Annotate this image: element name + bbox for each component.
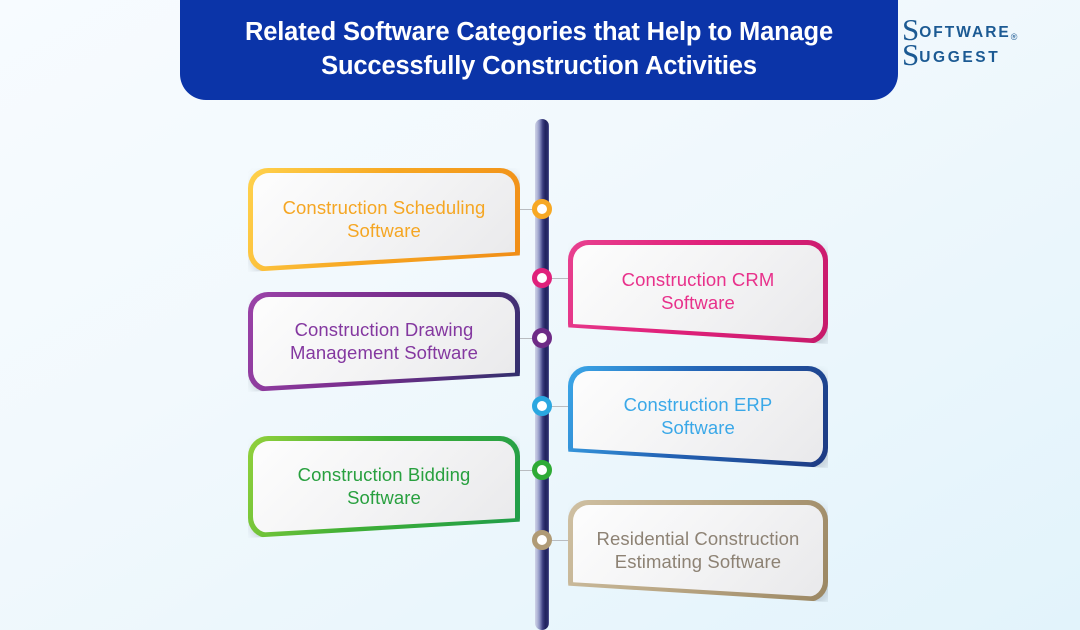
logo-word-software: OFTWARE: [919, 25, 1011, 43]
page-title-line-1: Related Software Categories that Help to…: [245, 18, 833, 46]
category-card-label: Construction Bidding Software: [267, 464, 501, 509]
category-card-inner: Construction Drawing Management Software: [253, 297, 515, 387]
timeline-dot-construction-scheduling-software[interactable]: [532, 199, 552, 219]
category-card-construction-drawing-management-software[interactable]: Construction Drawing Management Software: [248, 292, 520, 392]
category-card-inner: Construction CRM Software: [573, 245, 823, 339]
timeline-spine: [535, 119, 549, 630]
category-card-inner: Construction Bidding Software: [253, 441, 515, 533]
logo-word-suggest: UGGEST: [919, 50, 1000, 68]
category-card-residential-construction-estimating-software[interactable]: Residential Construction Estimating Soft…: [568, 500, 828, 602]
category-card-inner: Construction Scheduling Software: [253, 173, 515, 267]
header-banner: Related Software Categories that Help to…: [180, 0, 898, 100]
page-title-line-2: Successfully Construction Activities: [321, 52, 757, 80]
timeline-dot-construction-crm-software[interactable]: [532, 268, 552, 288]
category-card-construction-scheduling-software[interactable]: Construction Scheduling Software: [248, 168, 520, 272]
infographic-canvas: Related Software Categories that Help to…: [0, 0, 1080, 630]
category-card-label: Construction Drawing Management Software: [267, 319, 501, 364]
category-card-construction-erp-software[interactable]: Construction ERP Software: [568, 366, 828, 468]
category-card-construction-crm-software[interactable]: Construction CRM Software: [568, 240, 828, 344]
category-card-label: Residential Construction Estimating Soft…: [587, 528, 809, 573]
logo-line-2: S UGGEST: [902, 43, 1052, 67]
category-card-label: Construction Scheduling Software: [267, 197, 501, 242]
category-card-label: Construction ERP Software: [587, 394, 809, 439]
logo-line-1: S OFTWARE ®: [902, 18, 1052, 42]
timeline-dot-construction-drawing-management-software[interactable]: [532, 328, 552, 348]
category-card-inner: Residential Construction Estimating Soft…: [573, 505, 823, 597]
softwaresuggest-logo[interactable]: S OFTWARE ® S UGGEST: [902, 18, 1052, 70]
page-title: Related Software Categories that Help to…: [219, 2, 859, 84]
registered-trademark-icon: ®: [1011, 33, 1018, 42]
category-card-construction-bidding-software[interactable]: Construction Bidding Software: [248, 436, 520, 538]
timeline-dot-construction-erp-software[interactable]: [532, 396, 552, 416]
category-card-inner: Construction ERP Software: [573, 371, 823, 463]
timeline-dot-construction-bidding-software[interactable]: [532, 460, 552, 480]
category-card-label: Construction CRM Software: [587, 269, 809, 314]
logo-cap-s-2: S: [902, 43, 919, 67]
timeline-dot-residential-construction-estimating-software[interactable]: [532, 530, 552, 550]
